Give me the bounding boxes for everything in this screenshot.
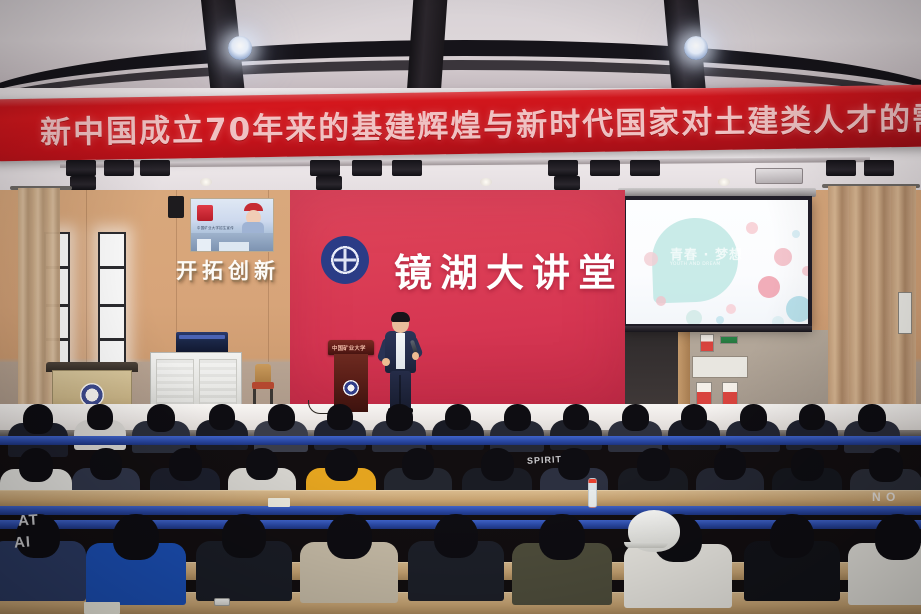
- audience-head: [770, 514, 814, 558]
- ceiling-downlight: [718, 178, 730, 186]
- slide-dot: [686, 310, 702, 324]
- backdrop-title-text: 镜湖大讲堂: [394, 242, 624, 297]
- audience-head: [563, 404, 589, 430]
- ceiling-downlight: [480, 178, 492, 186]
- slide-dot: [656, 296, 666, 306]
- slide-dot: [746, 222, 758, 234]
- ceiling-projector: [755, 168, 803, 184]
- notebook: [84, 602, 120, 614]
- audience-head: [19, 448, 53, 482]
- screen-bottom-bar: [622, 326, 812, 332]
- audience-head: [445, 404, 471, 430]
- truss-bar: [60, 157, 870, 168]
- stage-light-fixture: [316, 176, 342, 190]
- audience-head: [386, 404, 413, 431]
- podium-plaque: 中国矿业大学: [332, 344, 370, 352]
- university-emblem-icon: [321, 236, 369, 284]
- audience-head: [637, 448, 670, 481]
- wall-speaker-left: [168, 196, 184, 218]
- jacket-text-at-ai: AT: [17, 511, 39, 529]
- slide-dot: [774, 248, 792, 266]
- stage-light-fixture: [392, 160, 422, 176]
- slide-dot: [644, 252, 658, 266]
- slide-subtitle: YOUTH AND DREAM: [670, 262, 721, 267]
- wall-panel-seam: [86, 190, 87, 362]
- audience-head: [90, 448, 122, 480]
- audience-head: [169, 448, 202, 481]
- recruitment-poster: 中国矿业大学招生宣传: [190, 198, 274, 252]
- slide-dot: [726, 304, 736, 314]
- audience-head: [481, 448, 514, 481]
- presenter-hair: [391, 312, 410, 322]
- spotlight-left: [228, 36, 252, 60]
- stage-light-fixture: [66, 160, 96, 176]
- poster-campus-photo: [191, 233, 273, 251]
- stage-light-fixture: [140, 160, 170, 176]
- spotlight-right: [684, 36, 708, 60]
- poster-emblem-icon: [197, 205, 213, 221]
- audience-seating: ATAISPIRITN O: [0, 402, 921, 614]
- audience-head: [209, 404, 235, 430]
- audience-head: [740, 404, 767, 431]
- stage-light-fixture: [352, 160, 382, 176]
- audience-head: [325, 448, 358, 481]
- slide-dot: [802, 266, 808, 276]
- exit-sign-icon: [720, 336, 738, 344]
- podium-plaque-text: 中国矿业大学: [332, 344, 366, 352]
- slide-surface: 青春 · 梦想 YOUTH AND DREAM: [626, 200, 808, 324]
- audience-head: [222, 514, 266, 558]
- audience-head: [113, 514, 159, 560]
- slide-dot: [786, 296, 808, 322]
- audience-head: [268, 404, 295, 431]
- audience-head: [875, 514, 921, 560]
- wall-slogan-text: 开拓创新: [176, 255, 280, 285]
- slide-dot: [758, 276, 780, 298]
- ceiling-downlight: [200, 178, 212, 186]
- audience-head: [327, 514, 372, 559]
- podium-top: 中国矿业大学: [328, 340, 374, 355]
- paper-sheet: [268, 498, 290, 507]
- smartphone: [214, 598, 230, 606]
- jacket-text-ai: AI: [13, 533, 31, 551]
- chair-back-rail: [0, 436, 921, 445]
- water-bottle: [588, 478, 597, 508]
- audience-head: [504, 404, 531, 431]
- stage-light-fixture: [548, 160, 578, 176]
- audience-head: [622, 404, 649, 431]
- poster-caption: 中国矿业大学招生宣传: [197, 225, 234, 230]
- window-right: [98, 232, 126, 370]
- hoodie-text-spirit: SPIRIT: [527, 454, 562, 466]
- stage-light-fixture: [70, 176, 96, 190]
- audience-head: [869, 448, 903, 482]
- audience-head: [23, 404, 53, 434]
- audience-head: [87, 404, 113, 430]
- slide-dot: [792, 230, 800, 238]
- network-equipment: [176, 332, 228, 354]
- cabinet-door[interactable]: [199, 359, 237, 407]
- banner-text: 新中国成立70年来的基建辉煌与新时代国家对土建类人才的需要: [40, 92, 921, 152]
- slide-dot: [772, 316, 784, 324]
- cabinet-door[interactable]: [156, 359, 194, 407]
- stage-light-fixture: [310, 160, 340, 176]
- slide-dot: [716, 316, 724, 324]
- stage-light-fixture: [104, 160, 134, 176]
- presenter-right-hand: [412, 352, 419, 360]
- podium-emblem-icon: [343, 380, 359, 396]
- audience-head: [434, 514, 478, 558]
- projection-screen: 青春 · 梦想 YOUTH AND DREAM: [622, 196, 812, 328]
- audience-head: [558, 448, 590, 480]
- audience-head: [147, 404, 175, 432]
- stage-light-fixture: [864, 160, 894, 176]
- presenter: [380, 314, 420, 410]
- lecture-hall-photo: 新中国成立70年来的基建辉煌与新时代国家对土建类人才的需要: [0, 0, 921, 614]
- wall-notice-board: [692, 356, 748, 378]
- desk-row: [0, 490, 921, 506]
- cap-brim: [624, 542, 668, 548]
- poster-person-illustration: [241, 203, 265, 233]
- audience-head: [402, 448, 434, 480]
- stage-light-fixture: [826, 160, 856, 176]
- audience-head: [858, 404, 886, 432]
- wall-notice: [700, 334, 714, 352]
- slide-title: 青春 · 梦想: [670, 244, 743, 263]
- audience-head: [714, 448, 746, 480]
- presenter-left-hand: [382, 358, 390, 366]
- audience-head: [799, 404, 825, 430]
- stage-light-fixture: [590, 160, 620, 176]
- audience-head: [681, 404, 707, 430]
- presenter-shirt: [396, 333, 405, 369]
- audience-head: [327, 404, 353, 430]
- audience-head: [246, 448, 278, 480]
- audience-head: [791, 448, 824, 481]
- wall-notice-right: [898, 292, 912, 334]
- jacket-text-no: N O: [872, 490, 896, 504]
- stage-light-fixture: [630, 160, 660, 176]
- stage-light-fixture: [554, 176, 580, 190]
- audience-head: [539, 514, 585, 560]
